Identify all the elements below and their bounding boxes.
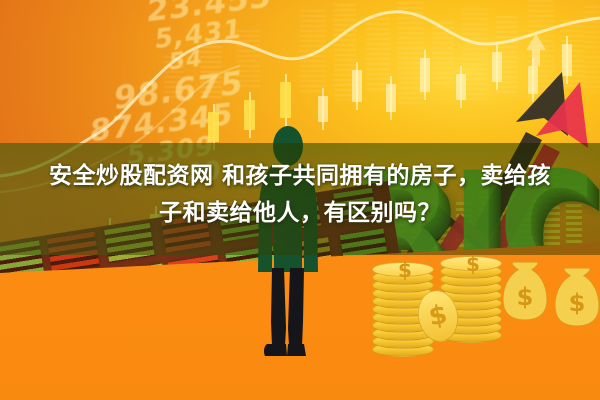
- svg-text:$: $: [517, 283, 534, 311]
- money-bag-icon: $: [500, 262, 550, 320]
- svg-text:$: $: [569, 289, 586, 317]
- dollar-sign-icon: $: [466, 254, 480, 274]
- headline-line-2: 子和卖给他人，有区别吗？: [0, 195, 600, 232]
- dollar-sign-icon: $: [398, 260, 412, 280]
- money-bag-icon: $: [552, 268, 600, 326]
- finance-article-banner: 23.453 5,431 54 98.675 874.345 5.309 7.3…: [0, 0, 600, 400]
- headline-line-1: 安全炒股配资网 和孩子共同拥有的房子，卖给孩: [0, 158, 600, 195]
- headline-text: 安全炒股配资网 和孩子共同拥有的房子，卖给孩 子和卖给他人，有区别吗？: [0, 158, 600, 232]
